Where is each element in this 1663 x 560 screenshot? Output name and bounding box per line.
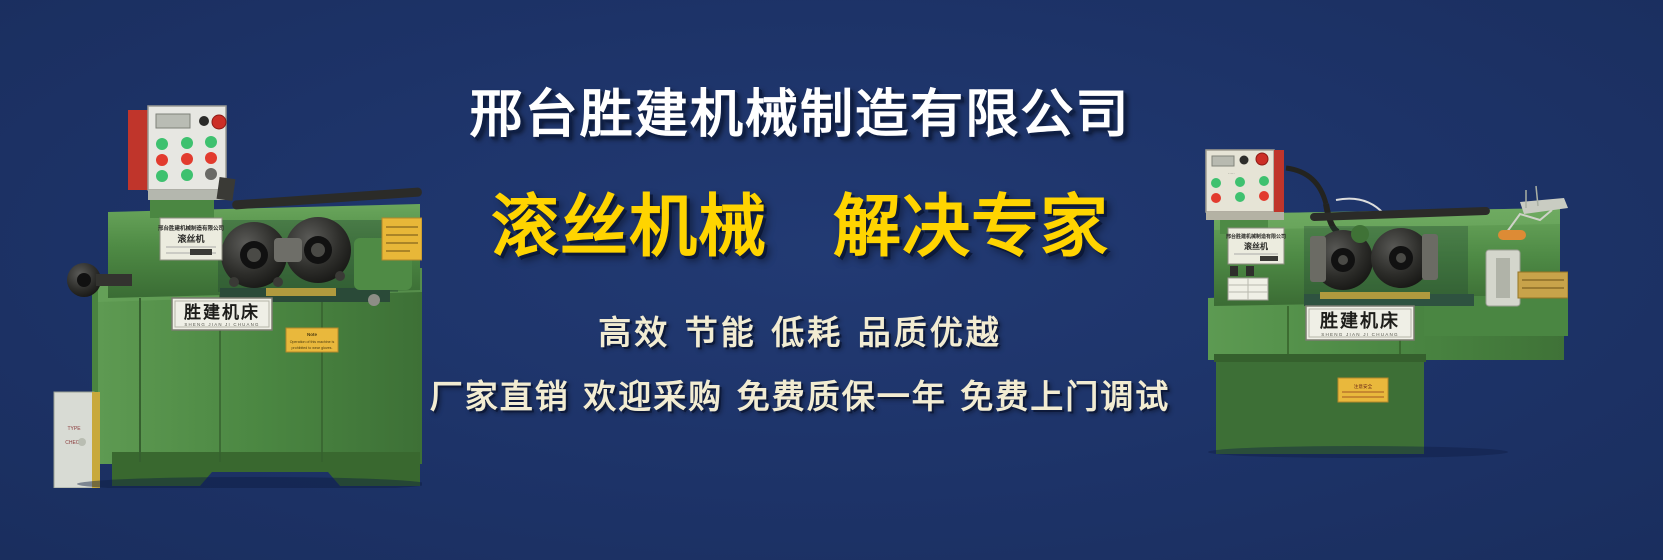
warning-label-text-right: 注意安全 <box>1354 383 1373 390</box>
spec-plate-model-left: 滚丝机 <box>177 233 204 245</box>
warning-label-right: 注意安全 <box>1338 378 1388 402</box>
note-label-left: Note Operation of this machine is prohib… <box>286 328 338 352</box>
banner-text-block: 邢台胜建机械制造有限公司 滚丝机械 解决专家 高效 节能 低耗 品质优越 厂家直… <box>400 88 1200 418</box>
headline-right: 解决专家 <box>833 171 1109 270</box>
company-name: 邢台胜建机械制造有限公司 <box>392 88 1208 143</box>
brand-plate-pinyin-left: SHENG JIAN JI CHUANG <box>184 322 259 327</box>
note-label-text-left-a: Operation of this machine is <box>290 340 335 344</box>
brand-plate-cn-right: 胜建机床 <box>1320 310 1400 332</box>
control-panel-left <box>128 106 235 218</box>
brand-plate-left: 胜建机床 SHENG JIAN JI CHUANG <box>172 298 272 330</box>
brand-plate-right: 胜建机床 SHENG JIAN JI CHUANG <box>1306 306 1414 340</box>
side-access-door-left: TYPE CHECK <box>54 392 100 488</box>
headline-left: 滚丝机械 <box>491 171 767 270</box>
subtitle-line-1: 高效 节能 低耗 品质优越 <box>400 306 1200 354</box>
promo-banner: 邢台胜建机械制造有限公司 滚丝机 胜建机床 SHENG JIAN JI CHUA… <box>0 0 1663 560</box>
spec-plate-right: 邢台胜建机械制造有限公司 滚丝机 <box>1226 228 1286 264</box>
svg-text:·····: ····· <box>1228 171 1235 176</box>
spec-plate-title-left: 邢台胜建机械制造有限公司 <box>157 224 224 232</box>
brand-plate-cn-left: 胜建机床 <box>184 302 260 323</box>
note-label-text-left-b: prohibited to wear gloves. <box>292 346 333 350</box>
spec-plate-title-right: 邢台胜建机械制造有限公司 <box>1226 233 1286 240</box>
spec-plate-model-right: 滚丝机 <box>1244 241 1268 251</box>
subtitle-line-2: 厂家直销 欢迎采购 免费质保一年 免费上门调试 <box>400 370 1200 418</box>
machine-photo-right: ····· <box>1168 128 1568 458</box>
brand-plate-pinyin-right: SHENG JIAN JI CHUANG <box>1321 332 1399 337</box>
roller-assembly-right <box>1304 225 1474 306</box>
headline-row: 滚丝机械 解决专家 <box>400 171 1200 270</box>
spec-plate-left: 邢台胜建机械制造有限公司 滚丝机 <box>157 218 224 260</box>
machine-photo-left: 邢台胜建机械制造有限公司 滚丝机 胜建机床 SHENG JIAN JI CHUA… <box>22 92 422 488</box>
side-panel-text-left: TYPE <box>67 426 81 432</box>
note-label-title-left: Note <box>307 332 317 337</box>
